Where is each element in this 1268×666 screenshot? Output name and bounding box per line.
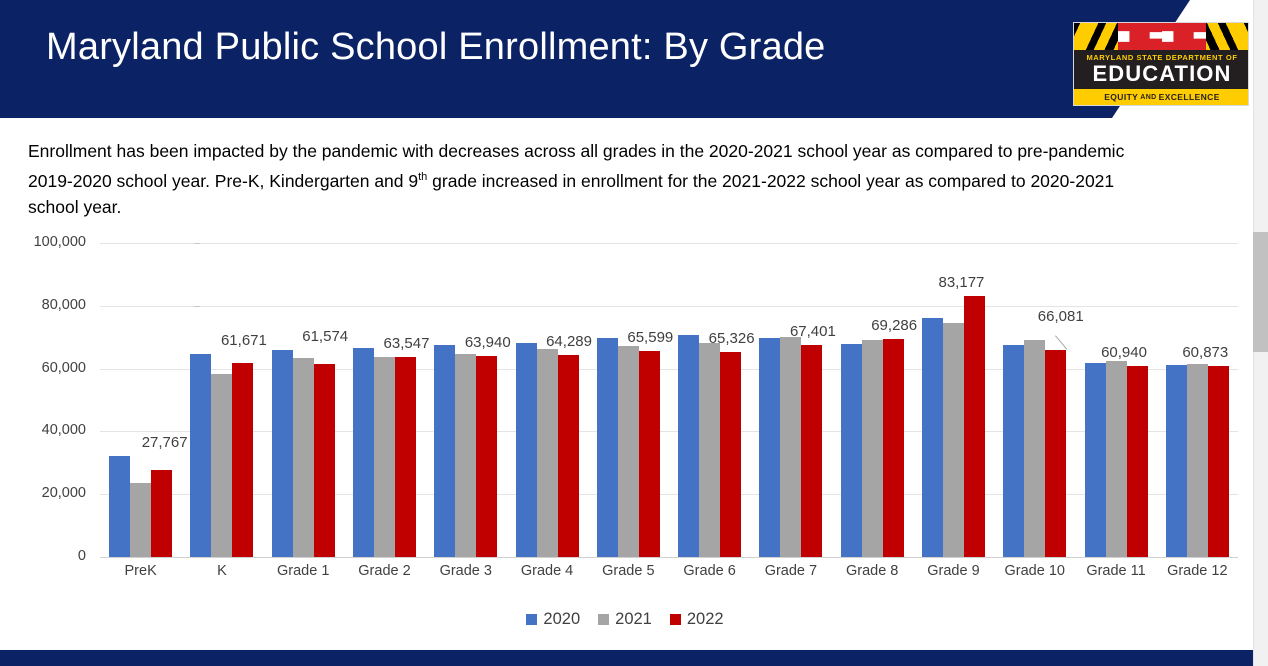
legend-label: 2021 (615, 610, 652, 629)
bar-2020[interactable] (434, 345, 455, 557)
intro-paragraph: Enrollment has been impacted by the pand… (28, 138, 1133, 220)
bar-2022[interactable] (314, 364, 335, 557)
bar-group: 67,401 (750, 243, 831, 557)
legend-label: 2022 (687, 610, 724, 629)
bar-cluster (506, 243, 587, 557)
bar-cluster (669, 243, 750, 557)
x-axis-label: Grade 8 (832, 563, 913, 579)
logo-education-word: EDUCATION (1074, 62, 1249, 86)
bar-2021[interactable] (780, 337, 801, 557)
bar-2021[interactable] (374, 357, 395, 557)
x-axis-label: Grade 3 (425, 563, 506, 579)
bar-2021[interactable] (537, 349, 558, 557)
bar-2022[interactable] (801, 345, 822, 557)
bar-group: 65,326 (669, 243, 750, 557)
bar-2021[interactable] (1024, 340, 1045, 557)
bar-2021[interactable] (862, 340, 883, 557)
x-axis-label: Grade 11 (1075, 563, 1156, 579)
x-axis-label: Grade 10 (994, 563, 1075, 579)
bar-2021[interactable] (699, 343, 720, 557)
x-axis-label: K (181, 563, 262, 579)
bar-2020[interactable] (109, 456, 130, 557)
logo-tagline-and: AND (1140, 94, 1156, 101)
bar-2020[interactable] (841, 344, 862, 557)
bar-cluster (994, 243, 1075, 557)
logo-tagline-excellence: EXCELLENCE (1159, 92, 1220, 102)
bar-2022[interactable] (964, 296, 985, 557)
msde-logo: MARYLAND STATE DEPARTMENT OF EDUCATION E… (1073, 22, 1249, 106)
bar-2020[interactable] (1085, 363, 1106, 557)
bar-group: 61,671 (181, 243, 262, 557)
legend-swatch-icon (526, 614, 537, 625)
bar-group: 65,599 (588, 243, 669, 557)
y-axis-tick-label: 60,000 (0, 360, 86, 376)
y-axis-tick-label: 80,000 (0, 297, 86, 313)
bar-cluster (1157, 243, 1238, 557)
x-axis-label: Grade 12 (1157, 563, 1238, 579)
bar-2020[interactable] (597, 338, 618, 557)
bar-2020[interactable] (272, 350, 293, 557)
bar-2022[interactable] (639, 351, 660, 557)
bar-2020[interactable] (1003, 345, 1024, 557)
bar-2021[interactable] (455, 354, 476, 557)
bar-2020[interactable] (1166, 365, 1187, 557)
legend-swatch-icon (598, 614, 609, 625)
y-axis-tick-label: 0 (0, 548, 86, 564)
y-axis-tick-label: 100,000 (0, 234, 86, 250)
bar-2021[interactable] (943, 323, 964, 557)
y-axis-tick-label: 40,000 (0, 422, 86, 438)
bar-cluster (100, 243, 181, 557)
bar-group: 66,081 (994, 243, 1075, 557)
bar-group: 83,177 (913, 243, 994, 557)
legend-swatch-icon (670, 614, 681, 625)
bar-2021[interactable] (293, 358, 314, 557)
bar-2020[interactable] (353, 348, 374, 557)
x-axis-label: Grade 2 (344, 563, 425, 579)
chart-legend: 202020212022 (0, 610, 1250, 629)
bar-2020[interactable] (678, 335, 699, 557)
legend-item-2021[interactable]: 2021 (598, 610, 652, 629)
bar-group: 64,289 (506, 243, 587, 557)
bar-group: 27,767 (100, 243, 181, 557)
bar-2022[interactable] (476, 356, 497, 557)
y-axis-tick-label: 20,000 (0, 485, 86, 501)
footer-strip (0, 650, 1268, 666)
x-axis-label: Grade 4 (506, 563, 587, 579)
x-axis-label: Grade 9 (913, 563, 994, 579)
bar-cluster (1075, 243, 1156, 557)
bar-2021[interactable] (618, 346, 639, 557)
bar-group: 60,940 (1075, 243, 1156, 557)
bar-cluster (181, 243, 262, 557)
enrollment-bar-chart: 020,00040,00060,00080,000100,000 27,7676… (0, 230, 1250, 640)
x-axis-label: Grade 7 (750, 563, 831, 579)
x-axis-label: Grade 6 (669, 563, 750, 579)
data-label: 60,873 (1145, 344, 1265, 361)
page-scrollbar[interactable] (1253, 0, 1268, 666)
bar-cluster (750, 243, 831, 557)
bar-2020[interactable] (190, 354, 211, 557)
x-axis-label: PreK (100, 563, 181, 579)
bar-group: 63,547 (344, 243, 425, 557)
bar-2022[interactable] (720, 352, 741, 557)
bar-group: 63,940 (425, 243, 506, 557)
x-axis-label: Grade 5 (588, 563, 669, 579)
bar-2022[interactable] (151, 470, 172, 557)
bar-2022[interactable] (232, 363, 253, 557)
bar-2022[interactable] (558, 355, 579, 557)
bar-cluster (344, 243, 425, 557)
legend-label: 2020 (543, 610, 580, 629)
bar-2021[interactable] (1187, 364, 1208, 557)
bar-cluster (588, 243, 669, 557)
bar-2022[interactable] (1127, 366, 1148, 557)
bar-group: 60,873 (1157, 243, 1238, 557)
x-axis-labels: PreKKGrade 1Grade 2Grade 3Grade 4Grade 5… (100, 563, 1238, 579)
bar-cluster (263, 243, 344, 557)
bar-2021[interactable] (211, 374, 232, 557)
bar-cluster (425, 243, 506, 557)
bar-2022[interactable] (1045, 350, 1066, 557)
bar-2022[interactable] (395, 357, 416, 557)
scrollbar-thumb[interactable] (1253, 232, 1268, 352)
bar-2021[interactable] (1106, 361, 1127, 557)
bar-2020[interactable] (922, 318, 943, 557)
legend-item-2020[interactable]: 2020 (526, 610, 580, 629)
x-axis-label: Grade 1 (263, 563, 344, 579)
legend-item-2022[interactable]: 2022 (670, 610, 724, 629)
bar-2021[interactable] (130, 483, 151, 557)
bar-2022[interactable] (883, 339, 904, 557)
ordinal-suffix: th (418, 171, 427, 183)
bar-2022[interactable] (1208, 366, 1229, 557)
page-title: Maryland Public School Enrollment: By Gr… (46, 26, 826, 69)
bar-group: 61,574 (263, 243, 344, 557)
chart-bar-groups: 27,76761,67161,57463,54763,94064,28965,5… (100, 243, 1238, 557)
bar-2020[interactable] (516, 343, 537, 557)
bar-2020[interactable] (759, 338, 780, 557)
x-axis-line (100, 557, 1238, 558)
logo-tagline: EQUITY AND EXCELLENCE (1074, 89, 1249, 105)
maryland-flag-icon (1074, 23, 1249, 50)
logo-tagline-equity: EQUITY (1104, 92, 1138, 102)
